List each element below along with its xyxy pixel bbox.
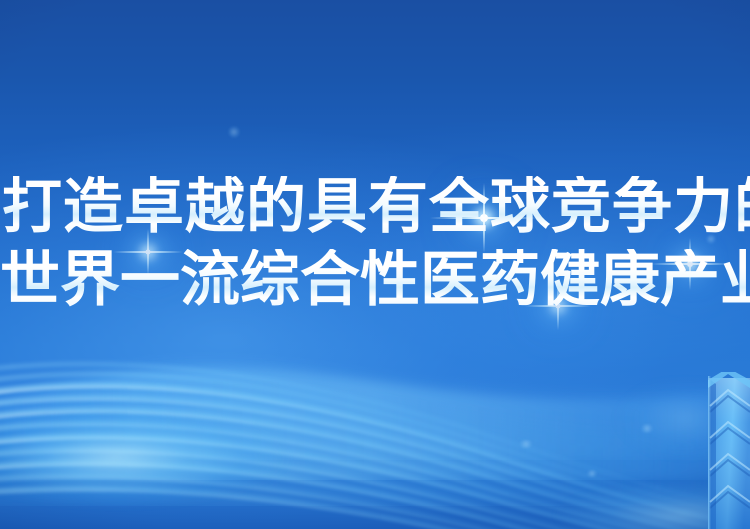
bokeh-dot [586,470,598,477]
chevron-tower-icon [698,372,750,529]
bokeh-dot [706,234,716,244]
promo-banner: 打造卓越的具有全球竞争力的 打造卓越的具有全球竞争力的 打造卓越的具有全球竞争力… [0,0,750,529]
bokeh-dot [228,126,240,138]
bokeh-dot [518,440,534,448]
bokeh-dot [640,424,654,433]
